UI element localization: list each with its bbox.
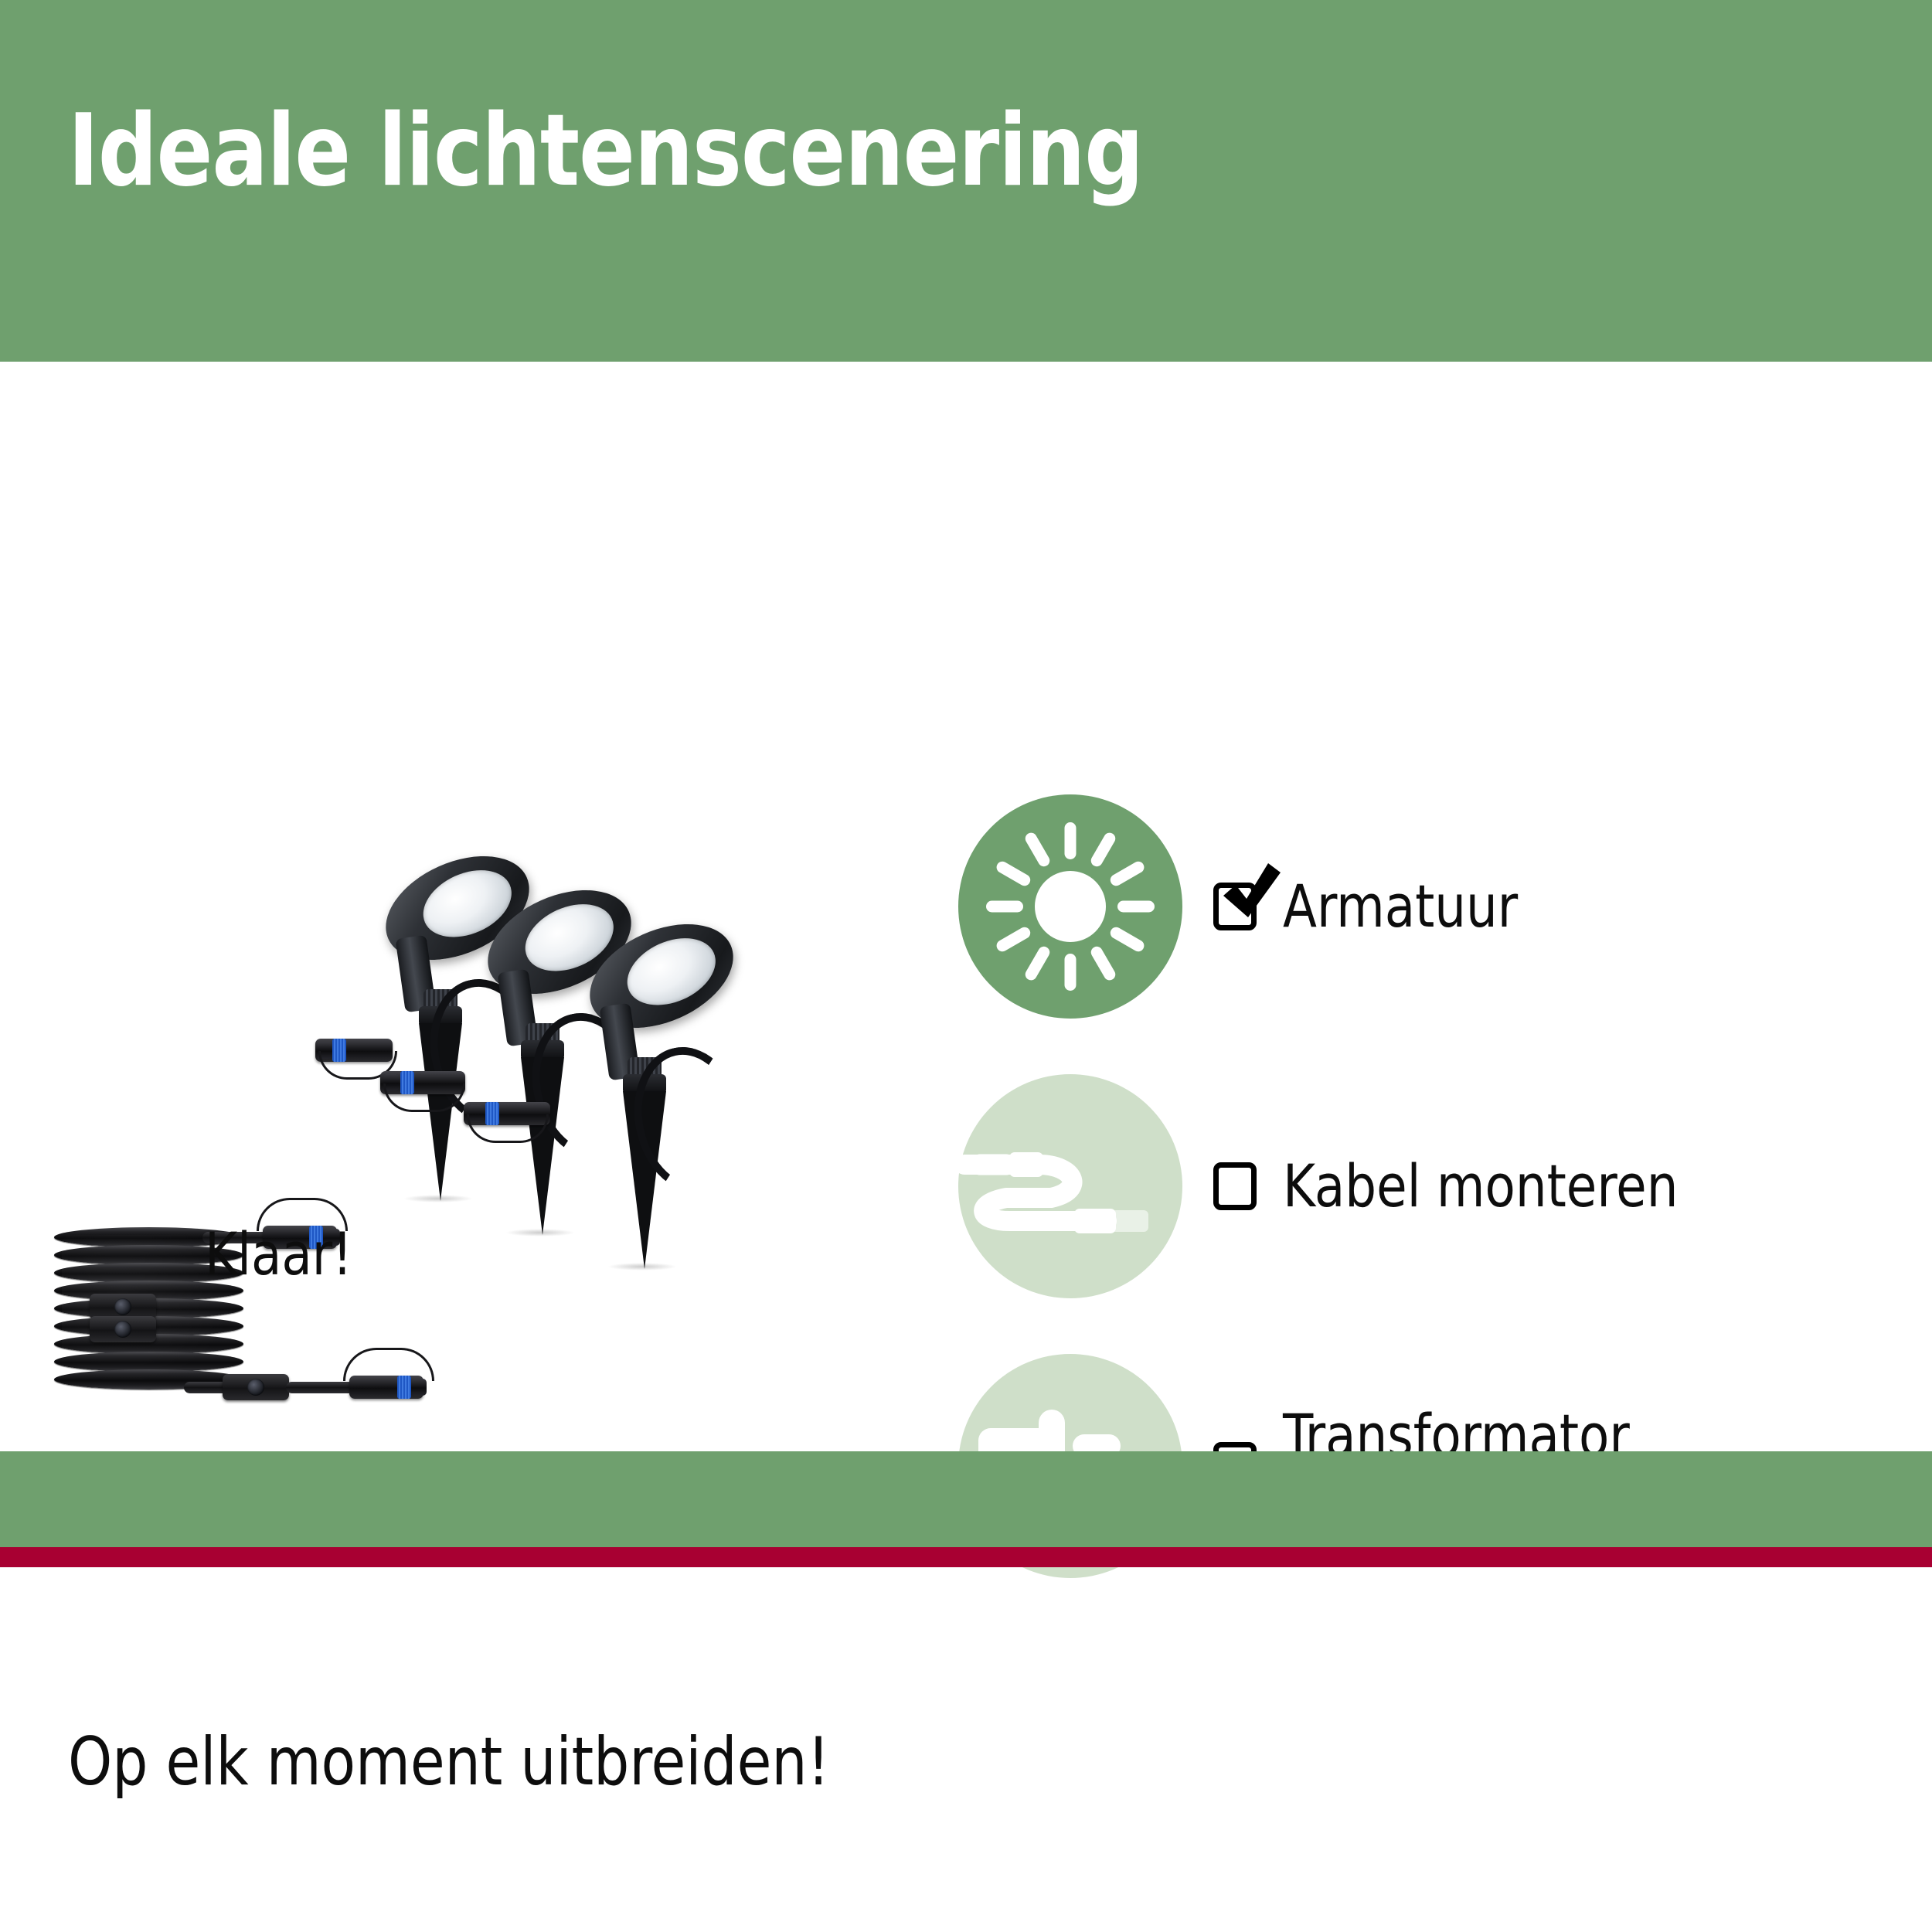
connector-cap-loop-lower xyxy=(343,1348,434,1381)
checklist-item-body: Armatuur xyxy=(1213,876,1533,937)
checkmark-icon xyxy=(1216,859,1282,925)
sun-icon xyxy=(958,794,1182,1019)
cable-icon xyxy=(958,1074,1182,1298)
checklist-item-label: Kabel monteren xyxy=(1283,1156,1678,1216)
header-band: Ideale lichtenscenering xyxy=(0,0,1932,362)
checklist-item-kabel[interactable]: Kabel monteren xyxy=(958,1074,1909,1298)
done-label: Klaar! xyxy=(205,1219,352,1288)
checkbox-checked[interactable] xyxy=(1213,883,1257,930)
checkbox-unchecked[interactable] xyxy=(1213,1162,1257,1210)
footer-green-band xyxy=(0,1451,1932,1547)
checklist-item-label: Armatuur xyxy=(1283,876,1518,937)
footer-caption: Op elk moment uitbreiden! xyxy=(68,1723,830,1801)
cable-t-joint xyxy=(223,1374,289,1400)
checklist-item-armatuur[interactable]: Armatuur xyxy=(958,794,1909,1019)
checklist-item-body: Kabel monteren xyxy=(1213,1156,1703,1216)
main-content-area: Armatuur Kabel monteren xyxy=(0,362,1932,1451)
page-title: Ideale lichtenscenering xyxy=(68,102,1143,201)
garden-spotlight-3 xyxy=(558,930,813,1263)
footer-red-band xyxy=(0,1547,1932,1567)
